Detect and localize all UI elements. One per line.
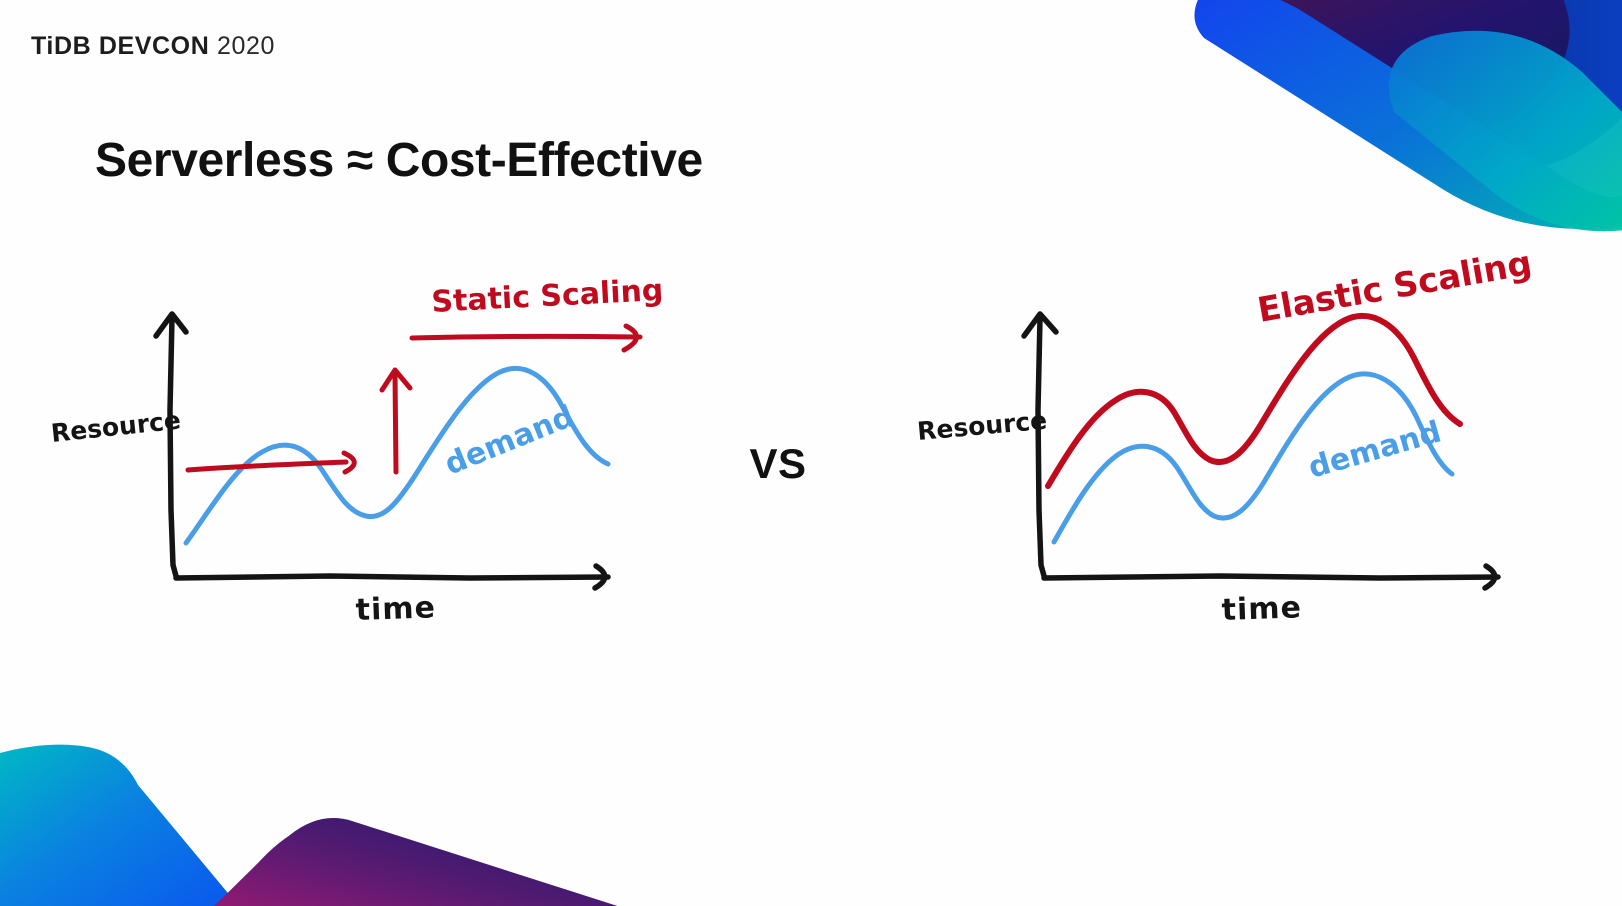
x-axis bbox=[176, 576, 608, 578]
x-axis-label: time bbox=[1221, 590, 1302, 628]
brand-name: TiDB DEVCON bbox=[31, 32, 209, 60]
chart-static-scaling: Resource time demand Static Scaling bbox=[0, 260, 720, 660]
vs-separator: VS bbox=[742, 440, 814, 488]
brand-year: 2020 bbox=[217, 32, 275, 60]
scale-up-arrow-shaft bbox=[395, 374, 396, 472]
y-axis bbox=[1038, 318, 1044, 576]
y-axis bbox=[170, 318, 176, 576]
x-axis-label: time bbox=[355, 590, 436, 628]
decorative-shape-top-right bbox=[1126, 0, 1622, 234]
chart-elastic-scaling: Resource time demand Elastic Scaling bbox=[860, 260, 1622, 660]
slide-canvas: TiDB DEVCON 2020 Serverless ≈ Cost-Effec… bbox=[0, 0, 1622, 906]
y-axis-label: Resource bbox=[50, 406, 182, 448]
decorative-shape-bottom-left bbox=[0, 675, 630, 906]
brand-header: TiDB DEVCON 2020 bbox=[31, 32, 275, 61]
x-axis bbox=[1044, 576, 1498, 578]
elastic-scaling-label: Elastic Scaling bbox=[1255, 243, 1535, 331]
static-capacity-line-2 bbox=[412, 336, 640, 338]
static-scaling-label: Static Scaling bbox=[431, 273, 665, 320]
page-title: Serverless ≈ Cost-Effective bbox=[95, 133, 703, 188]
y-axis-label: Resource bbox=[916, 406, 1048, 446]
demand-label: demand bbox=[1305, 415, 1446, 486]
